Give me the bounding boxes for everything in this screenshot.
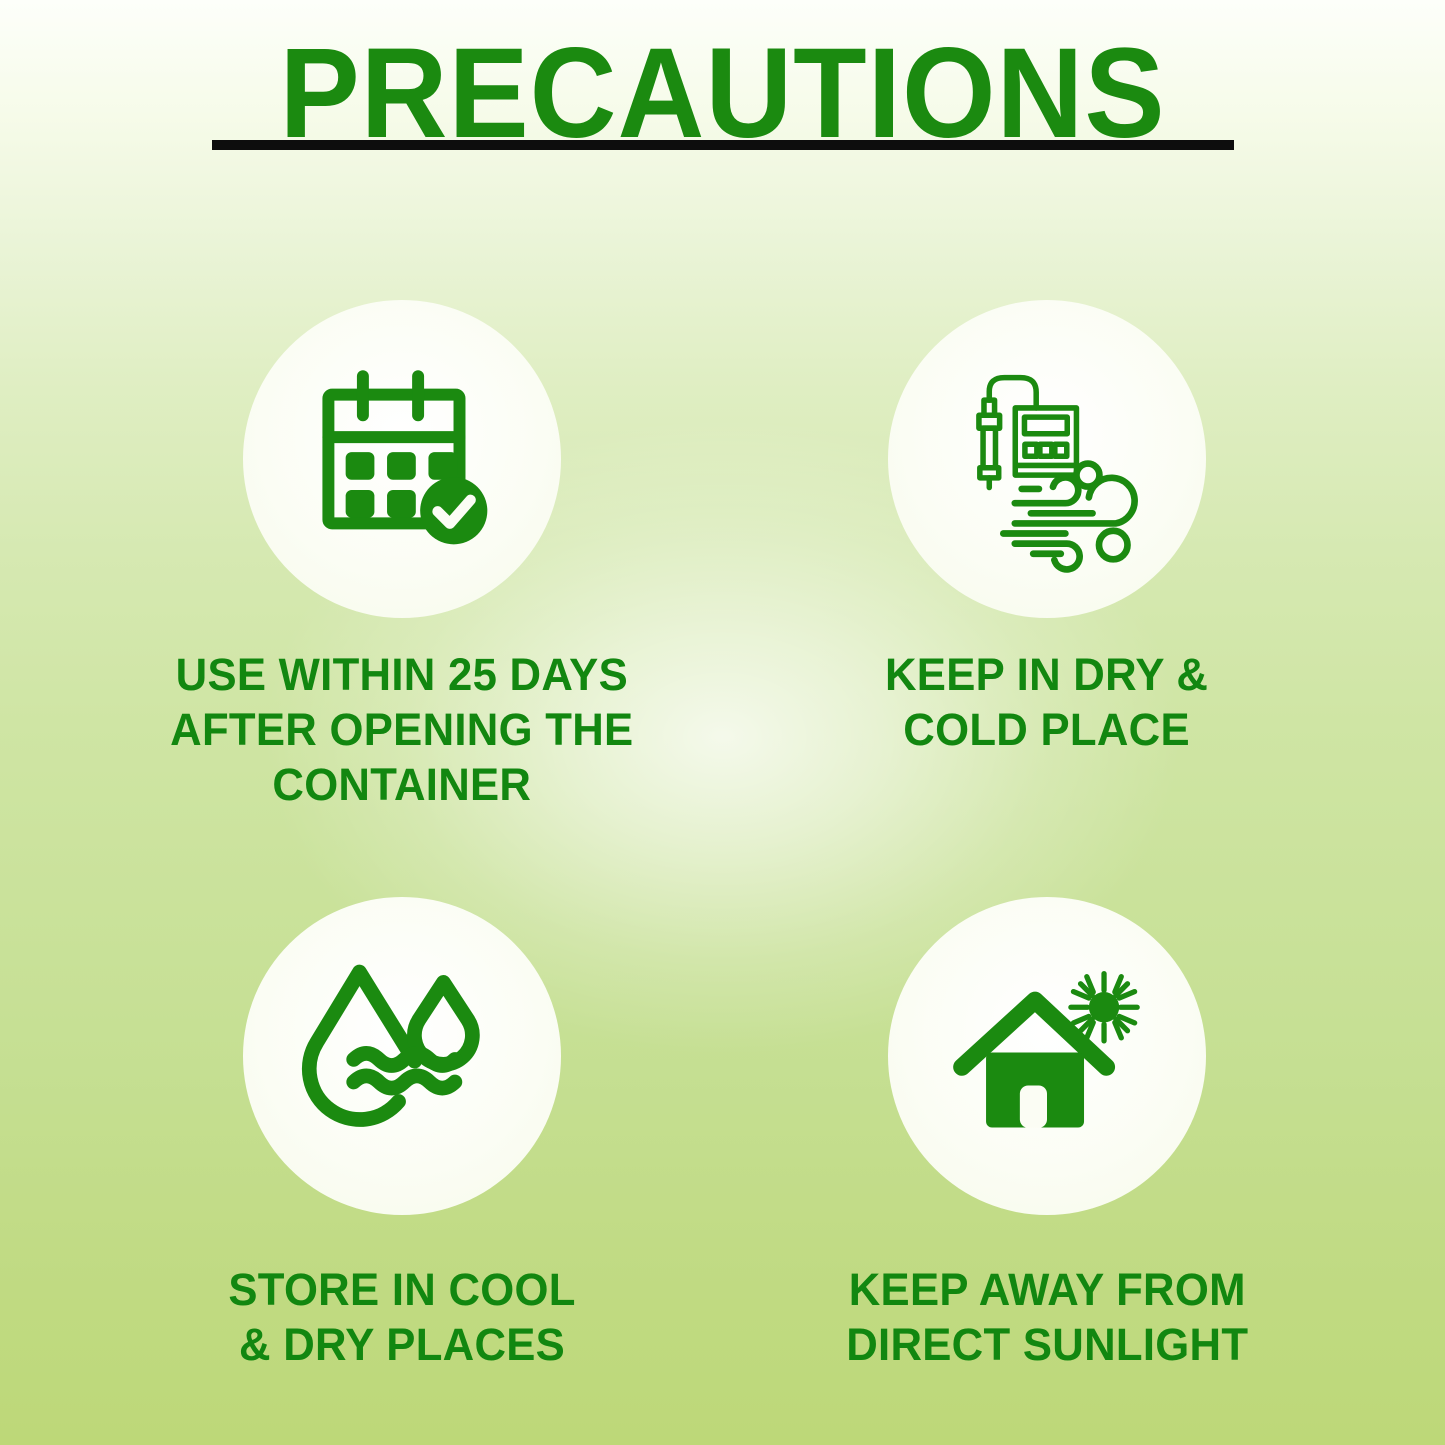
house-sun-icon: [932, 941, 1162, 1171]
precautions-poster: PRECAUTIONS: [0, 0, 1445, 1445]
precaution-card-label: STORE IN COOL & DRY PLACES: [229, 1263, 576, 1373]
precaution-card-label: USE WITHIN 25 DAYS AFTER OPENING THE CON…: [171, 648, 634, 813]
icon-disc: [243, 300, 561, 618]
icon-disc: [243, 897, 561, 1215]
page-title: PRECAUTIONS: [0, 30, 1445, 158]
precaution-card-use-within-25-days: USE WITHIN 25 DAYS AFTER OPENING THE CON…: [0, 300, 723, 813]
precautions-grid: USE WITHIN 25 DAYS AFTER OPENING THE CON…: [0, 300, 1445, 1372]
icon-disc: [888, 897, 1206, 1215]
icon-disc: [888, 300, 1206, 618]
humidity-meter-wind-icon: [932, 344, 1162, 574]
precaution-card-keep-in-dry-cold-place: KEEP IN DRY & COLD PLACE: [723, 300, 1445, 813]
precaution-card-label: KEEP IN DRY & COLD PLACE: [885, 648, 1208, 758]
precaution-card-keep-away-from-direct-sunlight: KEEP AWAY FROM DIRECT SUNLIGHT: [723, 897, 1445, 1373]
precaution-card-label: KEEP AWAY FROM DIRECT SUNLIGHT: [846, 1263, 1248, 1373]
page-title-text: PRECAUTIONS: [43, 30, 1401, 158]
water-droplet-waves-icon: [287, 941, 517, 1171]
calendar-check-icon: [287, 344, 517, 574]
title-underline-rule: [212, 140, 1234, 150]
precaution-card-store-in-cool-dry-places: STORE IN COOL & DRY PLACES: [0, 897, 723, 1373]
